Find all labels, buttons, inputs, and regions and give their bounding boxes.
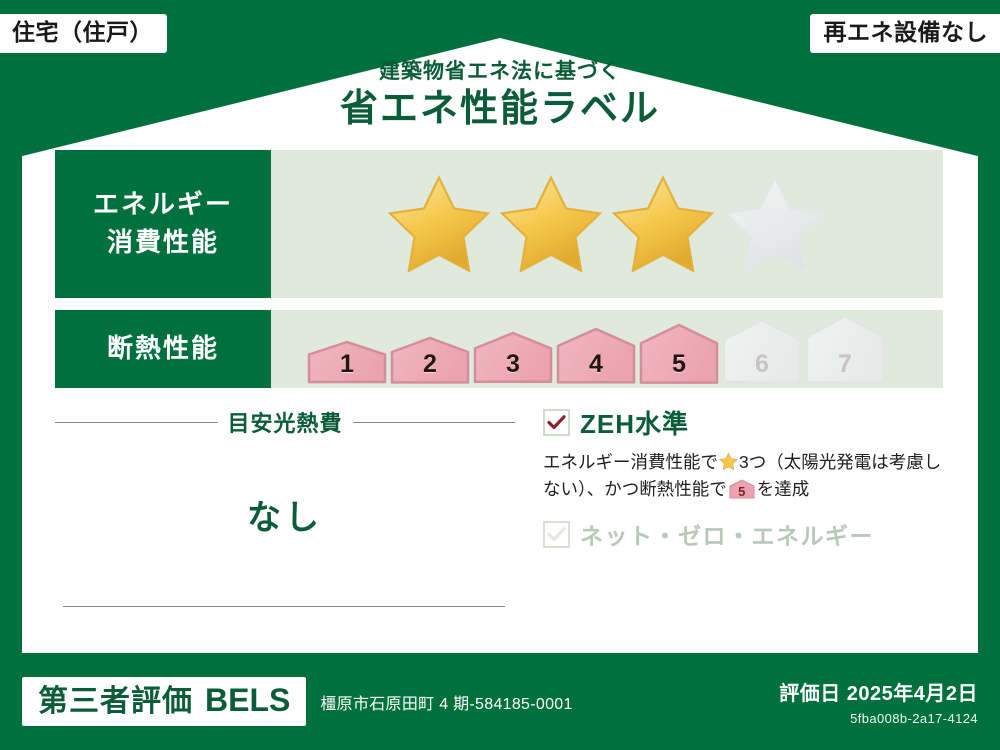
insulation-level: 1 [307,340,387,384]
utility-cost-section: 目安光熱費 なし [55,400,515,625]
insulation-level-number: 6 [755,352,769,384]
energy-performance-label: 住宅（住戸） 再エネ設備なし 建築物省エネ法に基づく 省エネ性能ラベル エネルギ… [0,0,1000,750]
footer-address: 橿原市石原田町 4 期-584185-0001 [320,690,572,714]
utility-cost-bottom-rule [63,606,505,607]
bottom-area: 目安光熱費 なし ZEH水準 エネルギー消費性能で3つ（太陽光発電は考慮しない）… [55,400,943,625]
insulation-level-number: 7 [838,352,852,384]
net-zero-title: ネット・ゼロ・エネルギー [580,517,874,551]
insulation-level: 6 [722,318,802,384]
insulation-level-number: 2 [423,352,437,384]
footer-eval-date: 評価日 2025年4月2日 [779,677,978,706]
utility-cost-value: なし [55,490,515,539]
utility-cost-title: 目安光熱費 [228,406,343,438]
title-subtitle: 建築物省エネ法に基づく [0,60,1000,83]
star-rating [385,172,829,276]
zeh-section: ZEH水準 エネルギー消費性能で3つ（太陽光発電は考慮しない）、かつ断熱性能で5… [515,400,943,625]
row-energy-label-line2: 消費性能 [107,224,219,262]
badge-renewable-energy: 再エネ設備なし [810,14,1000,53]
star-icon-filled [385,172,493,276]
footer: 第三者評価 BELS 橿原市石原田町 4 期-584185-0001 評価日 2… [0,653,1000,750]
bels-plate: 第三者評価 BELS [22,677,306,726]
insulation-level: 3 [473,331,553,384]
row-energy-body [271,150,943,298]
check-icon-faded [547,527,566,542]
insulation-level: 2 [390,336,470,384]
row-insulation-performance: 断熱性能 1234567 [55,310,943,388]
check-icon [547,415,566,430]
page-title: 省エネ性能ラベル [0,86,1000,134]
insulation-level-number: 3 [506,352,520,384]
insulation-badge-inline: 5 [729,479,755,499]
utility-cost-header: 目安光熱費 [55,400,515,438]
footer-eval-id: 5fba008b-2a17-4124 [779,711,978,726]
insulation-level-number: 1 [340,352,354,384]
metrics-block: エネルギー 消費性能 断熱性能 1234567 [55,150,943,400]
row-insulation-label: 断熱性能 [55,310,271,388]
zeh-description: エネルギー消費性能で3つ（太陽光発電は考慮しない）、かつ断熱性能で5を達成 [543,449,943,503]
insulation-badge-number: 5 [729,485,755,498]
footer-eval-block: 評価日 2025年4月2日 5fba008b-2a17-4124 [779,677,978,726]
row-insulation-label-text: 断熱性能 [107,330,219,368]
star-icon-empty [721,172,829,276]
zeh-header: ZEH水準 [543,404,943,441]
star-icon-filled [497,172,605,276]
net-zero-row: ネット・ゼロ・エネルギー [543,517,943,551]
insulation-level: 7 [805,314,885,384]
row-energy-performance: エネルギー 消費性能 [55,150,943,298]
star-icon-filled [609,172,717,276]
row-energy-label: エネルギー 消費性能 [55,150,271,298]
row-energy-label-line1: エネルギー [93,186,233,224]
divider-right [353,422,516,423]
zeh-desc-part3: を達成 [757,479,810,499]
bels-jp-text: 第三者評価 [38,687,193,717]
zeh-title: ZEH水準 [580,404,689,441]
divider-left [55,422,218,423]
zeh-desc-part1: エネルギー消費性能で [543,452,718,472]
star-icon-inline [719,452,738,471]
insulation-level-number: 4 [589,352,603,384]
title-block: 建築物省エネ法に基づく 省エネ性能ラベル [0,60,1000,134]
row-insulation-body: 1234567 [271,310,943,388]
insulation-scale: 1234567 [307,314,907,384]
bels-en-text: BELS [205,684,290,716]
insulation-level: 5 [639,323,719,385]
zeh-checkbox[interactable] [543,409,570,436]
insulation-level-number: 5 [672,352,686,384]
net-zero-checkbox[interactable] [543,521,570,548]
badge-building-type: 住宅（住戸） [0,14,167,53]
insulation-level: 4 [556,327,636,384]
